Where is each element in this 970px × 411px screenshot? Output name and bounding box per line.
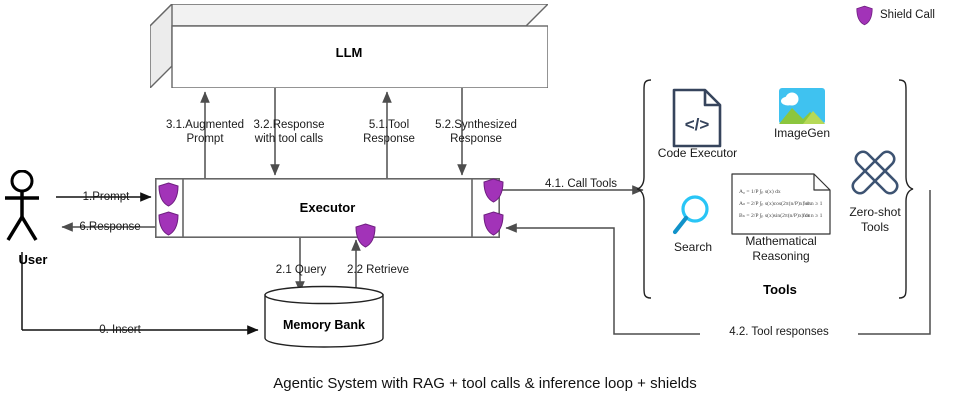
tools-left-brace: [636, 78, 654, 300]
svg-text:2/P ∫ₚ s(x)sin(2π(n/P)x) dx: 2/P ∫ₚ s(x)sin(2π(n/P)x) dx: [751, 212, 811, 219]
shield-icon: [158, 182, 179, 207]
shield-icon: [158, 211, 179, 236]
memory-bank-label: Memory Bank: [264, 318, 384, 332]
formula-document-icon: A₀ = 1/P ∫ₚ s(x) dx Aₙ = 2/P ∫ₚ s(x)cos(…: [731, 173, 831, 235]
figure-caption: Agentic System with RAG + tool calls & i…: [0, 375, 970, 392]
tools-group-label: Tools: [700, 282, 860, 297]
code-document-icon: </>: [672, 88, 722, 148]
tool-label-code-executor: Code Executor: [645, 146, 750, 161]
tool-label-search: Search: [648, 240, 738, 255]
svg-text:for n ≥ 1: for n ≥ 1: [803, 212, 823, 219]
edge-label-response: 6.Response: [62, 220, 158, 234]
shield-icon: [856, 5, 873, 26]
tool-label-imagegen: ImageGen: [752, 126, 852, 141]
memory-bank-node: [264, 285, 384, 348]
edge-label-call-tools: 4.1. Call Tools: [526, 177, 636, 191]
legend-label: Shield Call: [880, 8, 935, 22]
edge-label-prompt: 1.Prompt: [58, 190, 154, 204]
edge-label-synthesized-response: 5.2.Synthesized Response: [420, 118, 532, 147]
tool-label-zero-shot-tools: Zero-shot Tools: [825, 205, 925, 234]
edge-label-response-with-tool-calls: 3.2.Response with tool calls: [233, 118, 345, 147]
edge-label-retrieve: 2.2 Retrieve: [333, 263, 423, 277]
shield-icon: [355, 223, 376, 248]
llm-label: LLM: [150, 45, 548, 60]
svg-text:Aₙ =: Aₙ =: [739, 201, 750, 207]
svg-text:for n ≥ 1: for n ≥ 1: [803, 200, 823, 207]
edge-label-insert: 0. Insert: [70, 323, 170, 337]
image-icon: [779, 88, 825, 124]
tool-label-math-reasoning: Mathematical Reasoning: [726, 234, 836, 263]
executor-label: Executor: [155, 200, 500, 215]
shield-icon: [483, 178, 504, 203]
svg-text:Bₙ =: Bₙ =: [739, 213, 750, 219]
edge-label-query: 2.1 Query: [263, 263, 339, 277]
crossed-wrenches-icon: [849, 148, 901, 200]
edge-label-tool-responses: 4.2. Tool responses: [700, 325, 858, 339]
user-actor: [5, 170, 61, 242]
svg-text:1/P ∫ₚ s(x) dx: 1/P ∫ₚ s(x) dx: [751, 188, 781, 195]
svg-text:</>: </>: [685, 115, 710, 134]
user-label: User: [0, 252, 66, 267]
svg-text:A₀ =: A₀ =: [739, 189, 750, 195]
shield-icon: [483, 211, 504, 236]
magnifier-icon: [672, 194, 712, 236]
